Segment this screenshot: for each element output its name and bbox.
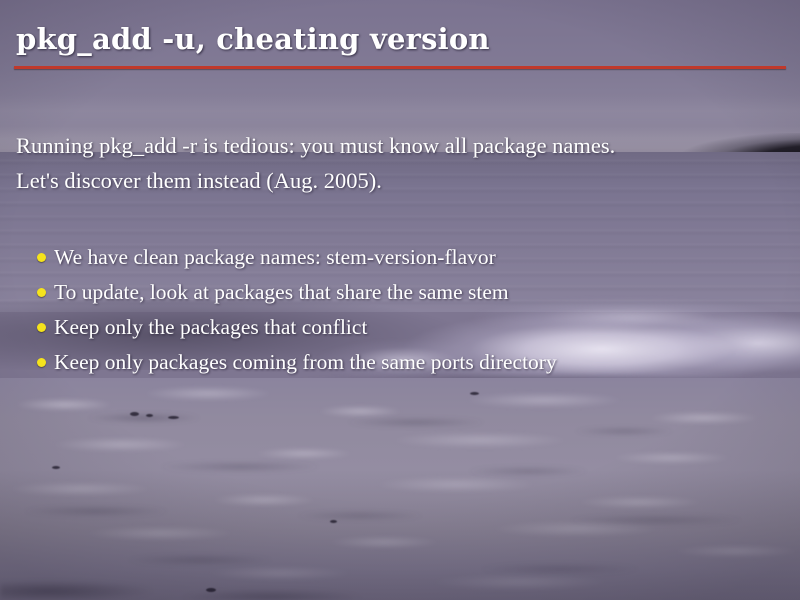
intro-paragraph: Running pkg_add -r is tedious: you must … <box>16 128 786 198</box>
list-item: Keep only the packages that conflict <box>36 310 786 345</box>
intro-line: Let's discover them instead (Aug. 2005). <box>16 163 786 198</box>
bullet-list: We have clean package names: stem-versio… <box>36 240 786 380</box>
list-item-label: Keep only the packages that conflict <box>54 315 367 339</box>
slide-content: pkg_add -u, cheating version Running pkg… <box>0 0 800 600</box>
list-item: We have clean package names: stem-versio… <box>36 240 786 275</box>
bullet-dot-icon <box>37 323 46 332</box>
intro-line: Running pkg_add -r is tedious: you must … <box>16 128 786 163</box>
list-item: Keep only packages coming from the same … <box>36 345 786 380</box>
list-item-label: To update, look at packages that share t… <box>54 280 509 304</box>
list-item-label: Keep only packages coming from the same … <box>54 350 557 374</box>
list-item: To update, look at packages that share t… <box>36 275 786 310</box>
slide-title: pkg_add -u, cheating version <box>16 22 490 56</box>
bullet-dot-icon <box>37 288 46 297</box>
bullet-dot-icon <box>37 253 46 262</box>
title-underline-rule <box>14 66 786 69</box>
list-item-label: We have clean package names: stem-versio… <box>54 245 496 269</box>
presentation-slide: pkg_add -u, cheating version Running pkg… <box>0 0 800 600</box>
bullet-dot-icon <box>37 358 46 367</box>
